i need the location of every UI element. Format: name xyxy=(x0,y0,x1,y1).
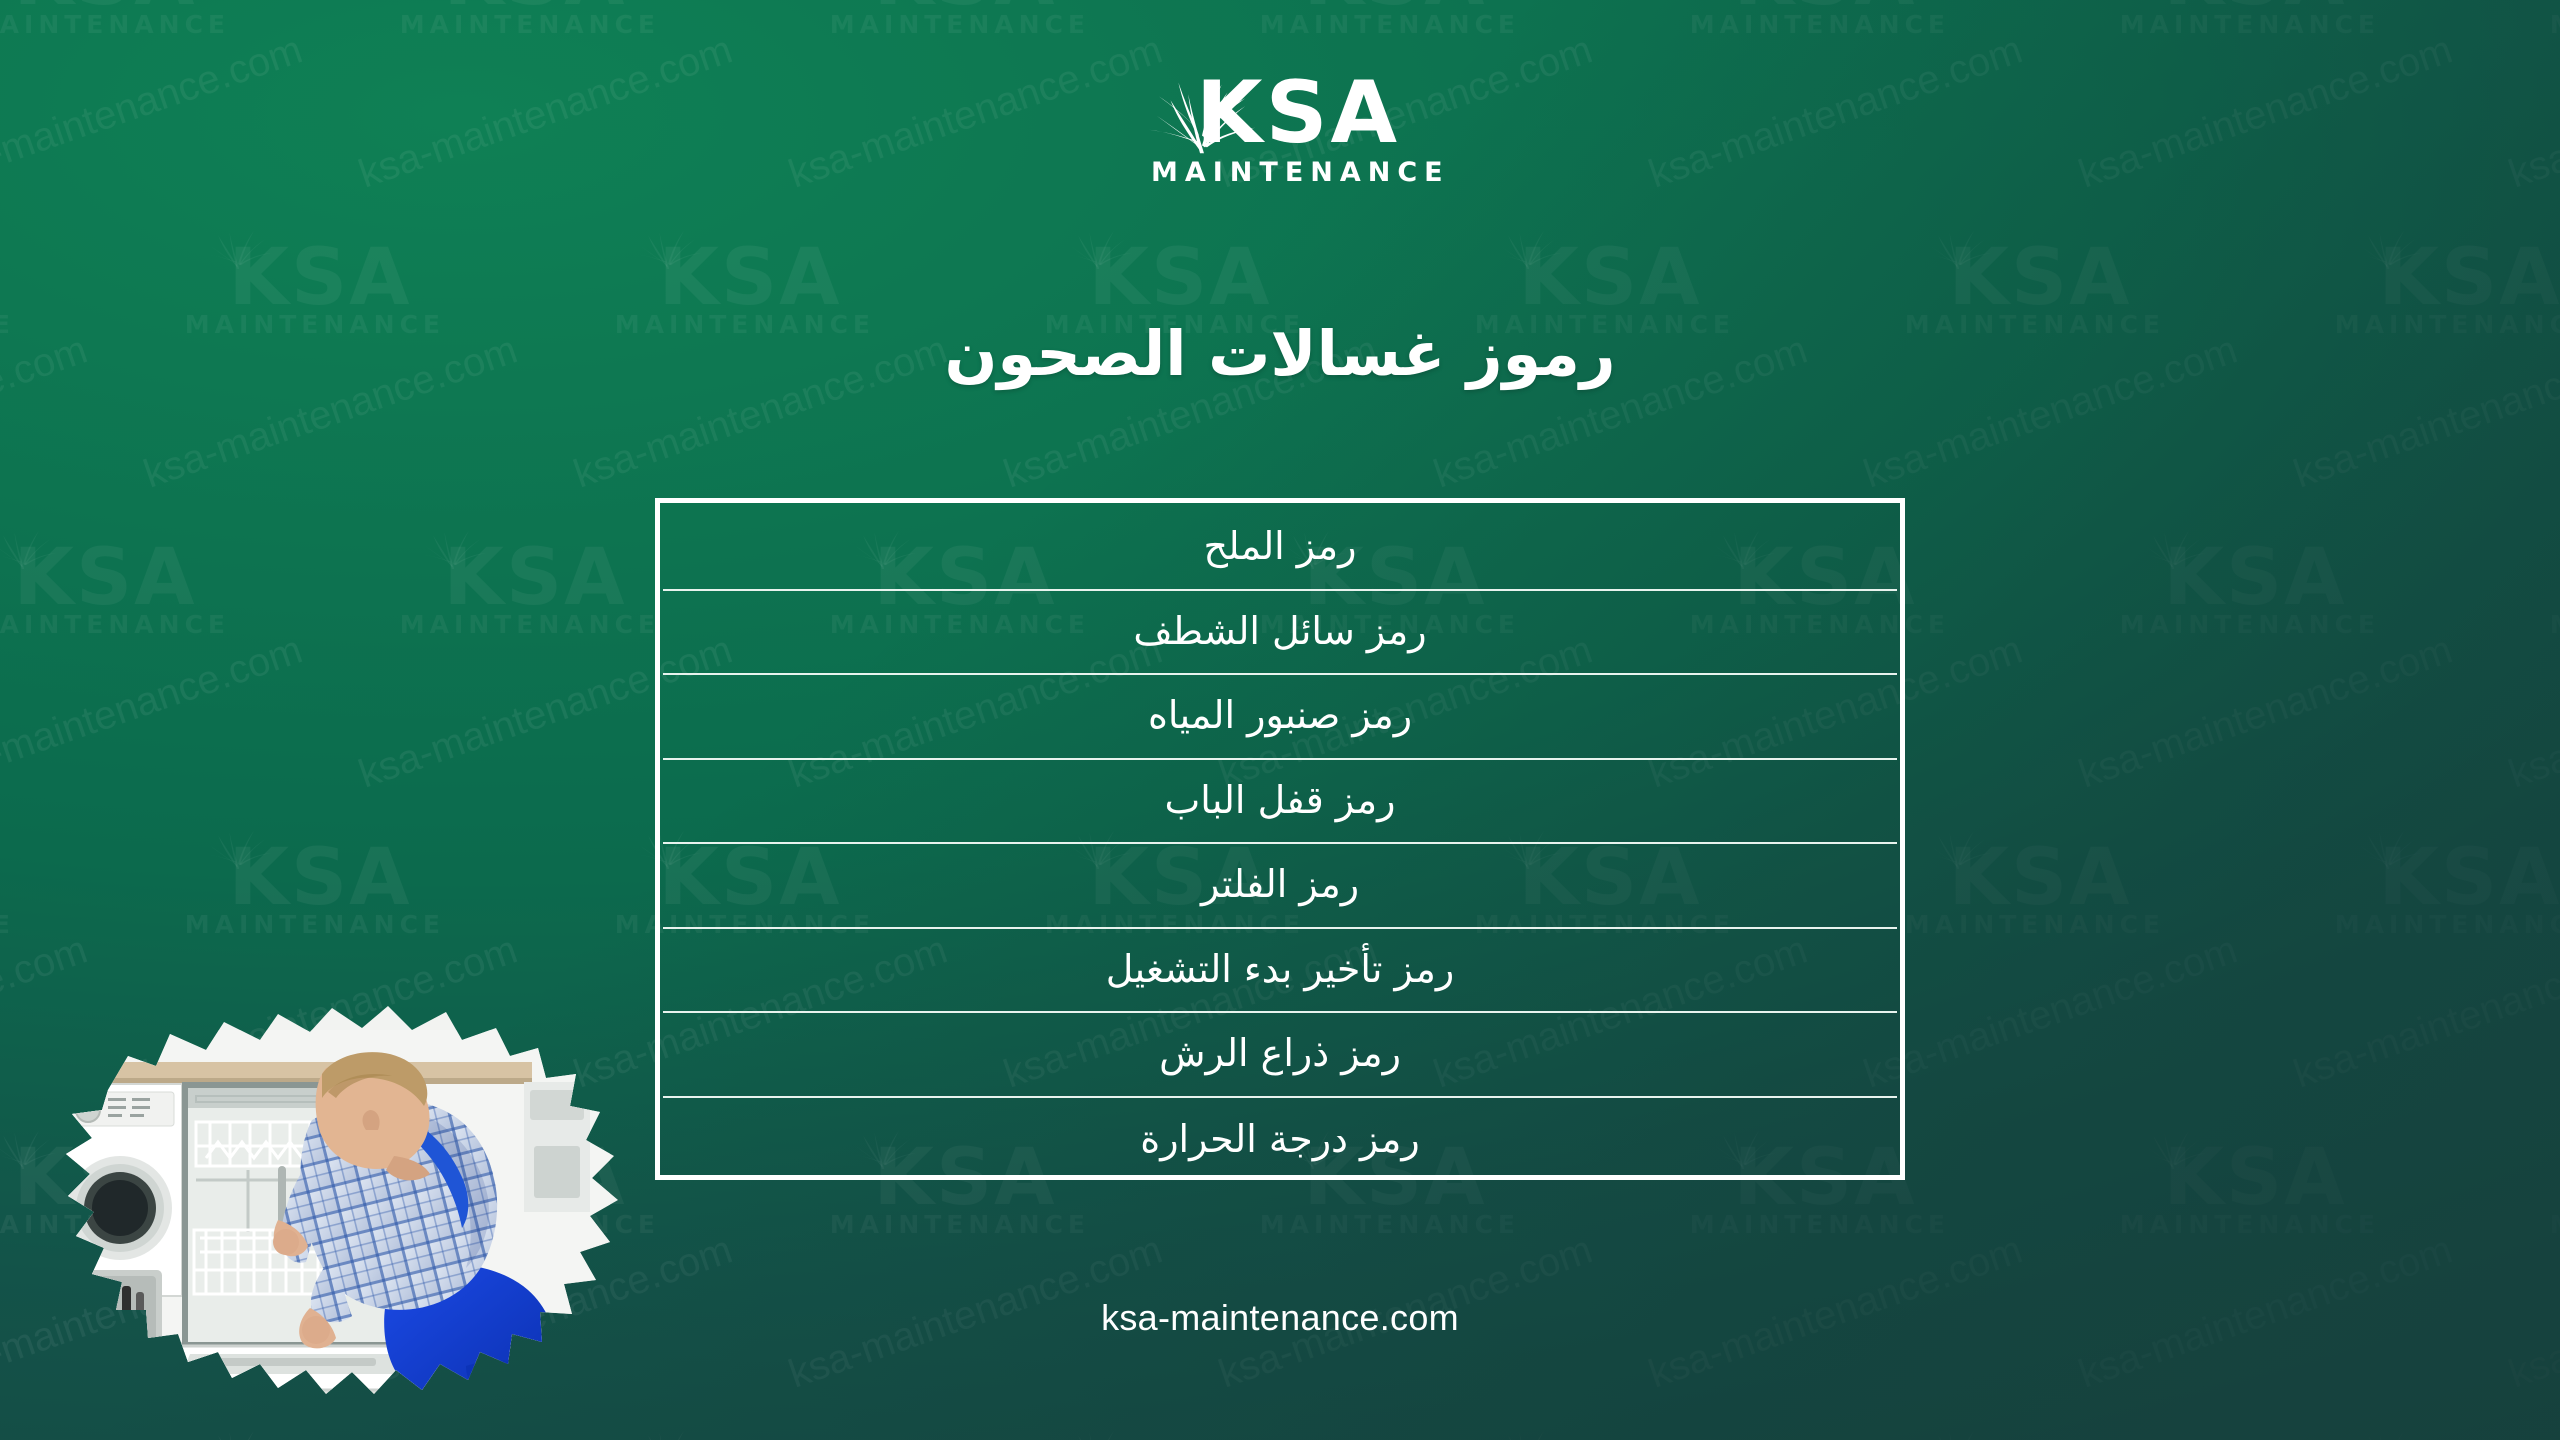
page-title: رموز غسالات الصحون xyxy=(0,318,2560,389)
brand-logo: KSA MAINTENANCE xyxy=(1125,72,1445,188)
table-row[interactable]: رمز صنبور المياه xyxy=(663,675,1897,760)
table-row[interactable]: رمز سائل الشطف xyxy=(663,591,1897,676)
symbols-table: رمز الملحرمز سائل الشطفرمز صنبور المياهر… xyxy=(655,498,1905,1180)
technician-dishwasher-photo xyxy=(10,970,650,1440)
table-row[interactable]: رمز قفل الباب xyxy=(663,760,1897,845)
brand-tagline: MAINTENANCE xyxy=(1151,157,1445,188)
table-row[interactable]: رمز الفلتر xyxy=(663,844,1897,929)
table-row[interactable]: رمز تأخير بدء التشغيل xyxy=(663,929,1897,1014)
table-row[interactable]: رمز الملح xyxy=(663,506,1897,591)
poster-canvas: KSAMAINTENANCEksa-maintenance.comKSAMAIN… xyxy=(0,0,2560,1440)
palm-frond-icon xyxy=(1143,66,1261,158)
table-row[interactable]: رمز درجة الحرارة xyxy=(663,1098,1897,1183)
table-row[interactable]: رمز ذراع الرش xyxy=(663,1013,1897,1098)
